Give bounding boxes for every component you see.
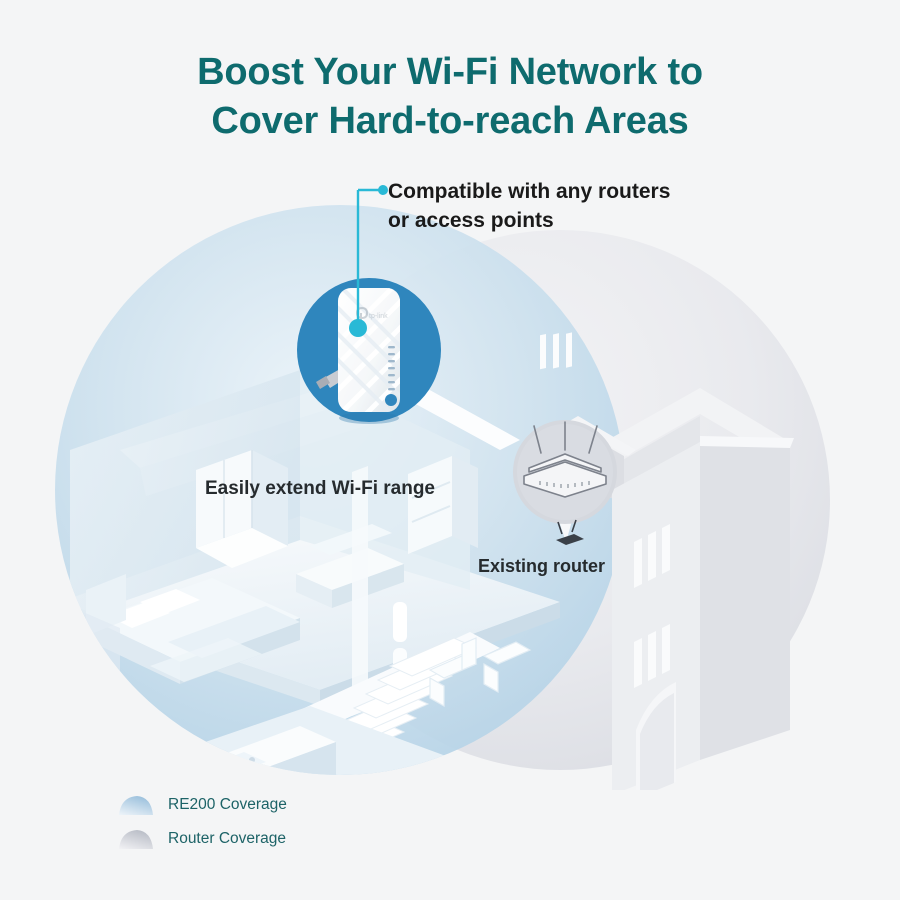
bedroom-wardrobe xyxy=(196,450,288,568)
infographic-page: Boost Your Wi-Fi Network to Cover Hard-t… xyxy=(0,0,900,900)
svg-text:tp-link: tp-link xyxy=(369,313,388,320)
callout-compatible-routers: Compatible with any routers or access po… xyxy=(388,178,788,236)
legend-label-re200: RE200 Coverage xyxy=(168,797,287,813)
re200-coverage-swatch-icon xyxy=(118,794,156,816)
legend-item-router: Router Coverage xyxy=(118,822,458,856)
router-coverage-swatch-icon xyxy=(118,828,156,850)
leader-end-dot xyxy=(378,185,388,195)
legend-item-re200: RE200 Coverage xyxy=(118,788,458,822)
legend-label-router: Router Coverage xyxy=(168,831,286,847)
house-coverage-illustration: tp-link xyxy=(0,150,900,790)
device-power-led xyxy=(385,394,397,406)
leader-anchor-dot xyxy=(349,319,367,337)
callout-line-1: Compatible with any routers xyxy=(388,178,788,207)
bookshelf xyxy=(408,456,478,554)
page-title-line-2: Cover Hard-to-reach Areas xyxy=(0,97,900,146)
callout-line-2: or access points xyxy=(388,207,788,236)
label-easily-extend-wifi-range: Easily extend Wi-Fi range xyxy=(205,478,435,500)
page-title-line-1: Boost Your Wi-Fi Network to xyxy=(0,48,900,97)
coverage-legend: RE200 Coverage Router Coverage xyxy=(118,788,458,856)
label-existing-router: Existing router xyxy=(478,556,605,577)
page-title: Boost Your Wi-Fi Network to Cover Hard-t… xyxy=(0,48,900,145)
